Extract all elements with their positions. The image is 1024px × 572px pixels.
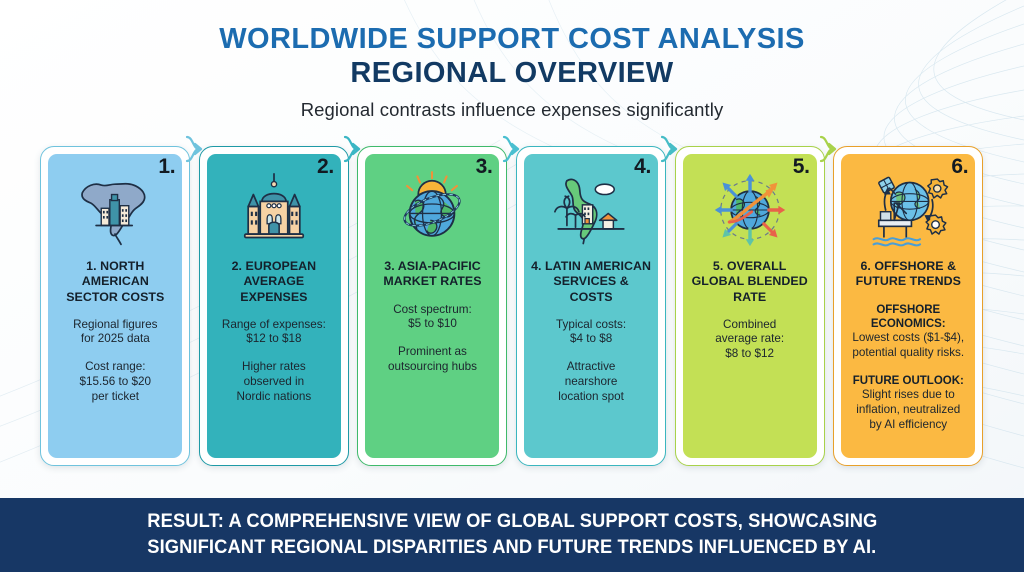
european-cathedral-icon bbox=[231, 167, 317, 253]
card-3-asia-pacific-market-rates[interactable]: 3. 3. ASIA-PACIFIC MARKET RATESCost spec… bbox=[357, 146, 507, 466]
card-5-overall-global-blended-rate[interactable]: 5. bbox=[675, 146, 825, 466]
card-body-6: 6. bbox=[841, 154, 975, 458]
card-body-text-2-4: Attractivenearshorelocation spot bbox=[558, 360, 624, 404]
card-slot-5: 5. bbox=[670, 146, 829, 466]
card-number-badge-4: 4. bbox=[634, 156, 651, 177]
card-slot-3: 3. 3. ASIA-PACIFIC MARKET RATESCost spec… bbox=[353, 146, 512, 466]
card-4-latin-american-services-costs[interactable]: 4. bbox=[516, 146, 666, 466]
card-number-badge-1: 1. bbox=[158, 156, 175, 177]
card-body-text-2-3: Prominent asoutsourcing hubs bbox=[388, 345, 477, 374]
card-title-1: 1. NORTH AMERICAN SECTOR COSTS bbox=[55, 259, 175, 305]
card-body-text-2-6: Slight rises due toinflation, neutralize… bbox=[856, 388, 960, 432]
card-title-6: 6. OFFSHORE & FUTURE TRENDS bbox=[848, 259, 968, 290]
globe-sun-icon bbox=[389, 167, 475, 253]
card-body-3: 3. 3. ASIA-PACIFIC MARKET RATESCost spec… bbox=[365, 154, 499, 458]
card-number-badge-5: 5. bbox=[793, 156, 810, 177]
card-body-text-1-3: Cost spectrum:$5 to $10 bbox=[393, 303, 472, 332]
card-number-badge-6: 6. bbox=[951, 156, 968, 177]
card-body-text-1-4: Typical costs:$4 to $8 bbox=[556, 318, 626, 347]
card-body-text-2-2: Higher ratesobserved inNordic nations bbox=[237, 360, 312, 404]
card-body-text-1-1: Regional figuresfor 2025 data bbox=[73, 318, 157, 347]
card-6-offshore-future-trends[interactable]: 6. bbox=[833, 146, 983, 466]
card-body-1: 1. 1. NORTH AMERICAN SECTOR COSTSRegiona… bbox=[48, 154, 182, 458]
north-america-map-icon bbox=[72, 167, 158, 253]
card-body-text-1-2: Range of expenses:$12 to $18 bbox=[222, 318, 326, 347]
cards-row: 1. 1. NORTH AMERICAN SECTOR COSTSRegiona… bbox=[36, 146, 988, 466]
card-title-4: 4. LATIN AMERICAN SERVICES & COSTS bbox=[531, 259, 651, 305]
card-slot-6: 6. bbox=[829, 146, 988, 466]
card-body-text-2-1: Cost range:$15.56 to $20per ticket bbox=[80, 360, 152, 404]
card-body-text-1-5: Combinedaverage rate:$8 to $12 bbox=[715, 318, 784, 362]
footer-line-2: SIGNIFICANT REGIONAL DISPARITIES AND FUT… bbox=[147, 535, 876, 561]
card-slot-1: 1. 1. NORTH AMERICAN SECTOR COSTSRegiona… bbox=[36, 146, 195, 466]
footer-line-1: RESULT: A COMPREHENSIVE VIEW OF GLOBAL S… bbox=[147, 509, 877, 535]
global-arrows-globe-icon bbox=[707, 167, 793, 253]
card-body-2: 2. 2. EUROPEAN AVERAGE EXPENSESRan bbox=[207, 154, 341, 458]
card-title-2: 2. EUROPEAN AVERAGE EXPENSES bbox=[214, 259, 334, 305]
card-number-badge-3: 3. bbox=[476, 156, 493, 177]
card-number-badge-2: 2. bbox=[317, 156, 334, 177]
page-title-line-1: WORLDWIDE SUPPORT COST ANALYSIS bbox=[0, 22, 1024, 56]
card-body-text-1-6: Lowest costs ($1-$4),potential quality r… bbox=[852, 331, 964, 360]
card-title-3: 3. ASIA-PACIFIC MARKET RATES bbox=[372, 259, 492, 290]
card-slot-2: 2. 2. EUROPEAN AVERAGE EXPENSESRan bbox=[195, 146, 354, 466]
card-1-north-american-sector-costs[interactable]: 1. 1. NORTH AMERICAN SECTOR COSTSRegiona… bbox=[40, 146, 190, 466]
latin-america-map-icon bbox=[548, 167, 634, 253]
footer-banner: RESULT: A COMPREHENSIVE VIEW OF GLOBAL S… bbox=[0, 498, 1024, 572]
header: WORLDWIDE SUPPORT COST ANALYSIS REGIONAL… bbox=[0, 0, 1024, 121]
offshore-rig-gears-globe-icon bbox=[865, 167, 951, 253]
card-subheading-2-6: FUTURE OUTLOOK: bbox=[853, 374, 964, 388]
card-2-european-average-expenses[interactable]: 2. 2. EUROPEAN AVERAGE EXPENSESRan bbox=[199, 146, 349, 466]
card-body-4: 4. bbox=[524, 154, 658, 458]
card-slot-4: 4. bbox=[512, 146, 671, 466]
page-title-line-2: REGIONAL OVERVIEW bbox=[0, 56, 1024, 90]
card-subheading-1-6: OFFSHOREECONOMICS: bbox=[871, 303, 946, 332]
page-subtitle: Regional contrasts influence expenses si… bbox=[0, 99, 1024, 121]
card-body-5: 5. bbox=[683, 154, 817, 458]
card-title-5: 5. OVERALL GLOBAL BLENDED RATE bbox=[690, 259, 810, 305]
